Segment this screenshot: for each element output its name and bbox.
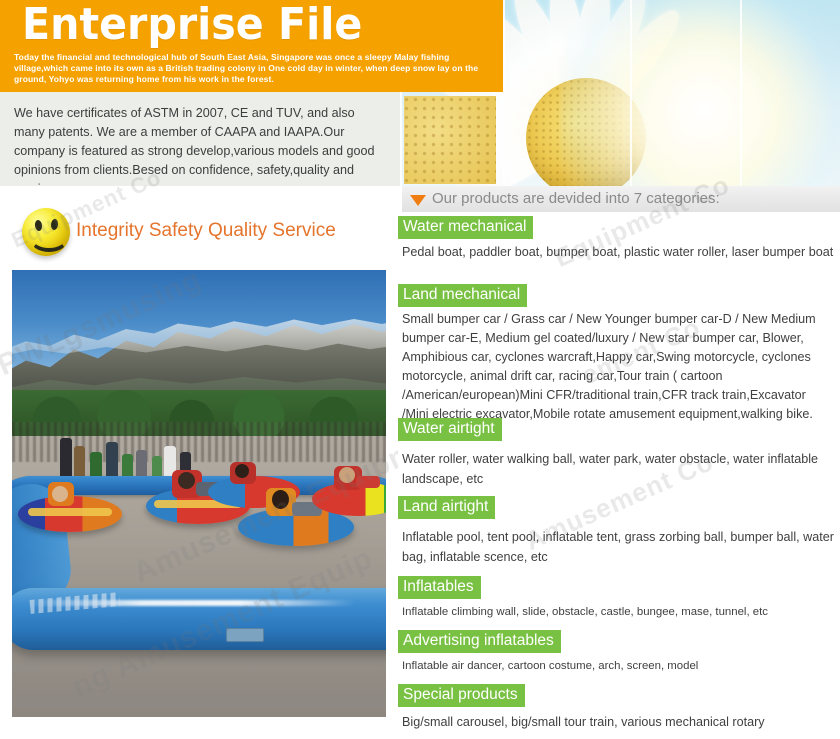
category-tag[interactable]: Land mechanical [398, 284, 527, 307]
category-items: Small bumper car / Grass car / New Young… [398, 310, 838, 424]
category-land-airtight[interactable]: Land airtight Inflatable pool, tent pool… [398, 496, 840, 567]
category-items: Inflatable air dancer, cartoon costume, … [398, 658, 838, 675]
top-banner: Enterprise File Today the financial and … [0, 0, 840, 92]
left-column: Integrity Safety Quality Service [0, 186, 398, 739]
categories-header: Our products are devided into 7 categori… [402, 186, 840, 212]
product-photo [12, 270, 386, 717]
category-tag[interactable]: Water mechanical [398, 216, 533, 239]
triangle-down-icon [410, 195, 426, 206]
category-water-mechanical[interactable]: Water mechanical Pedal boat, paddler boa… [398, 216, 840, 262]
categories-header-label: Our products are devided into 7 categori… [432, 190, 720, 207]
daisy-thumbnail [404, 96, 496, 184]
category-water-airtight[interactable]: Water airtight Water roller, water walki… [398, 418, 840, 489]
category-tag[interactable]: Advertising inflatables [398, 630, 561, 653]
smiley-mouth [30, 226, 68, 252]
category-items: Big/small carousel, big/small tour train… [398, 712, 838, 732]
product-categories-panel: Our products are devided into 7 categori… [398, 186, 840, 739]
category-land-mechanical[interactable]: Land mechanical Small bumper car / Grass… [398, 284, 840, 424]
category-items: Inflatable pool, tent pool, inflatable t… [398, 527, 838, 567]
category-items: Inflatable climbing wall, slide, obstacl… [398, 604, 838, 621]
certificates-box: We have certificates of ASTM in 2007, CE… [0, 92, 400, 186]
category-items: Pedal boat, paddler boat, bumper boat, p… [398, 242, 838, 262]
category-tag[interactable]: Inflatables [398, 576, 481, 599]
category-tag[interactable]: Water airtight [398, 418, 502, 441]
category-inflatables[interactable]: Inflatables Inflatable climbing wall, sl… [398, 576, 840, 621]
slogan-text: Integrity Safety Quality Service [76, 220, 336, 242]
smiley-face-icon [22, 208, 70, 256]
category-tag[interactable]: Special products [398, 684, 525, 707]
banner-subtitle: Today the financial and technological hu… [14, 52, 506, 86]
category-special-products[interactable]: Special products Big/small carousel, big… [398, 684, 840, 732]
certificates-text: We have certificates of ASTM in 2007, CE… [14, 104, 386, 199]
slogan-row: Integrity Safety Quality Service [0, 202, 398, 260]
category-items: Water roller, water walking ball, water … [398, 449, 838, 489]
enterprise-file-page: Enterprise File Today the financial and … [0, 0, 840, 739]
category-advertising-inflatables[interactable]: Advertising inflatables Inflatable air d… [398, 630, 840, 675]
category-tag[interactable]: Land airtight [398, 496, 495, 519]
page-title: Enterprise File [22, 2, 362, 48]
